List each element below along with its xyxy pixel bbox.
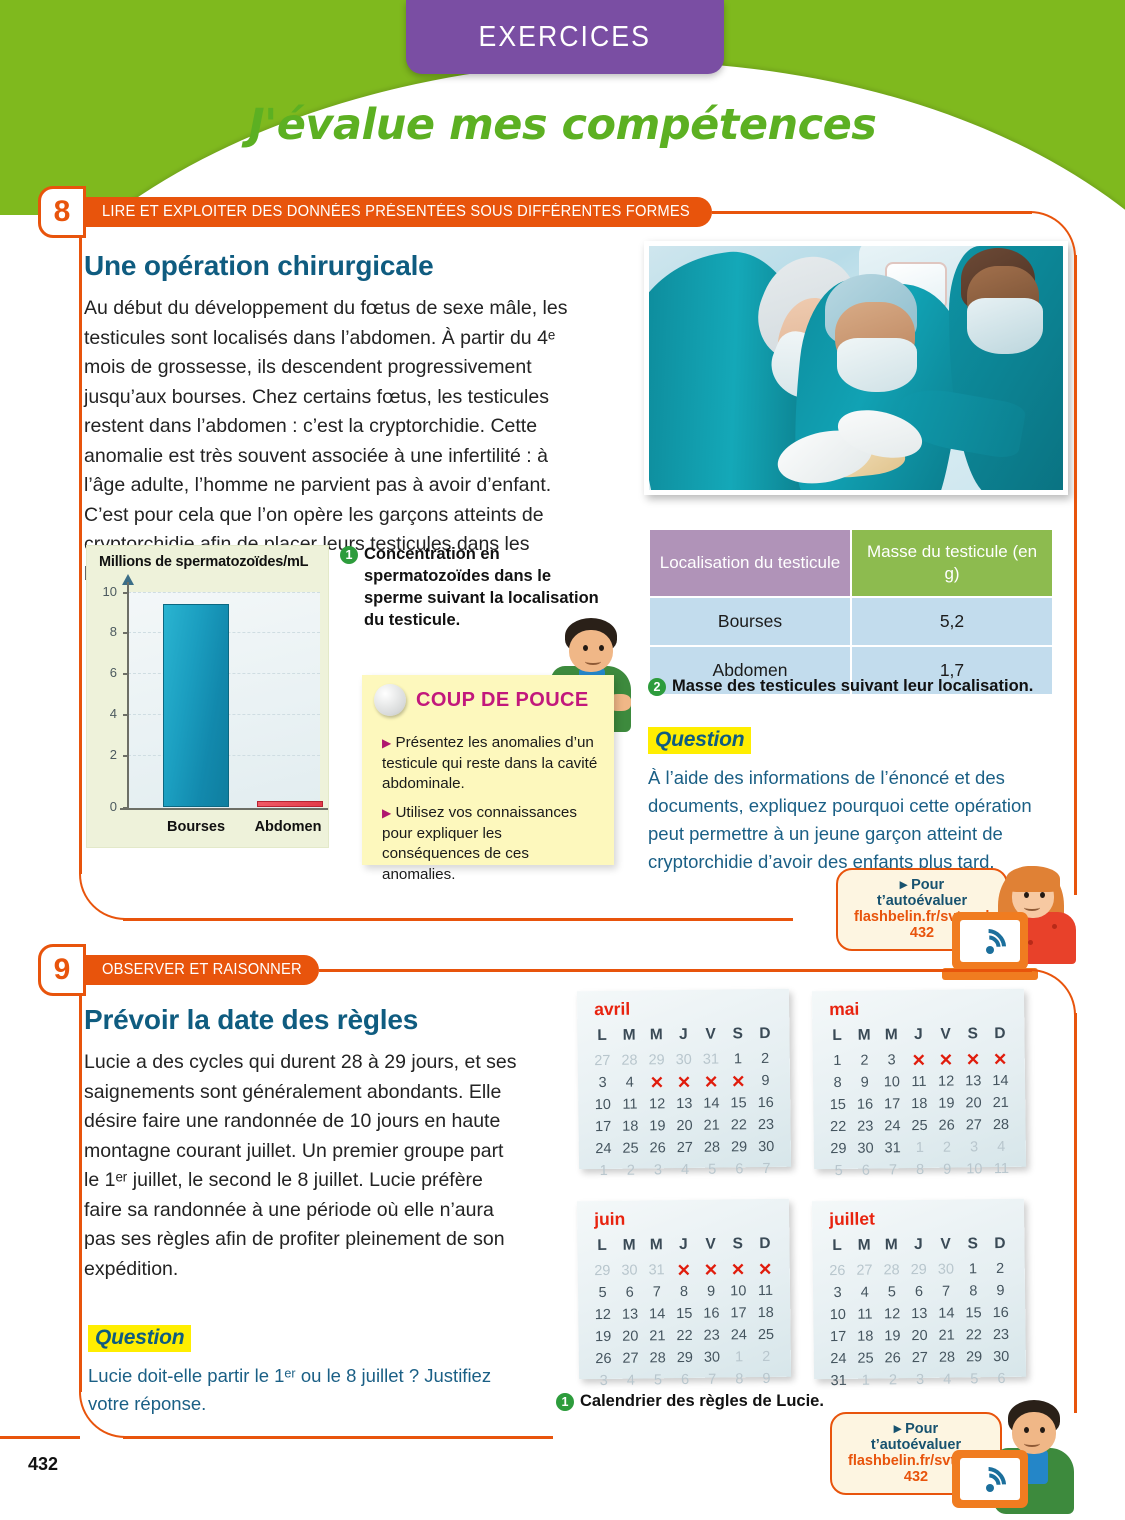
tablet-device-8[interactable] — [952, 912, 1028, 970]
calendar-day: 21 — [644, 1327, 671, 1346]
calendar-day: 22 — [824, 1118, 851, 1137]
calendar-day: 14 — [933, 1305, 960, 1324]
boy-eye-left — [583, 645, 588, 651]
girl-hair-top — [1006, 866, 1060, 892]
calendar-day-of-week: S — [959, 1025, 986, 1047]
table-header-masse: Masse du testicule (en g) — [852, 530, 1052, 596]
calendar-day: 26 — [590, 1350, 617, 1369]
chart-y-tick-label: 2 — [93, 747, 117, 762]
calendar-day: 11 — [752, 1282, 779, 1301]
calendar-day: 29 — [960, 1348, 987, 1367]
chart-y-tick-label: 0 — [93, 799, 117, 814]
calendar-month-label: mai — [829, 999, 859, 1020]
calendar-day: 19 — [879, 1327, 906, 1346]
calendar-day: 31 — [697, 1051, 724, 1070]
calendar-day: 26 — [824, 1262, 851, 1281]
boy-eye-right — [599, 645, 604, 651]
calendar-day: 8 — [670, 1283, 697, 1302]
calendar-day: 1 — [724, 1050, 751, 1069]
calendar-day: 15 — [960, 1304, 987, 1323]
calendar-day: 15 — [725, 1094, 752, 1113]
calendar-day-of-week: S — [724, 1235, 751, 1257]
coup-de-pouce-title: COUP DE POUCE — [416, 689, 589, 712]
calendar-day-of-week: V — [932, 1026, 959, 1048]
calendar-day: 28 — [698, 1138, 725, 1157]
calendar-day: 23 — [852, 1117, 879, 1136]
calendar-day: 18 — [752, 1304, 779, 1323]
calendar-day: 1 — [725, 1348, 752, 1367]
coup-de-pouce-item-2-text: Utilisez vos connaissances pour explique… — [382, 804, 577, 883]
calendar-cross-icon: ✕ — [959, 1050, 986, 1069]
calendar-day: 17 — [824, 1328, 851, 1347]
calendar-day: 8 — [906, 1161, 933, 1180]
surgeon-center-mask — [837, 338, 917, 392]
calendar-day: 20 — [671, 1117, 698, 1136]
calendar-day: 30 — [698, 1348, 725, 1367]
calendar-day: 2 — [851, 1051, 878, 1070]
triangle-bullet-icon: ▶ — [382, 806, 391, 820]
page-title: J'évalue mes compétences — [0, 100, 1125, 150]
exercise-9-competence-banner: OBSERVER ET RAISONNER — [86, 955, 319, 985]
coup-de-pouce-pin-icon — [374, 684, 406, 716]
testicle-mass-table: Localisation du testicule Masse du testi… — [648, 528, 1054, 696]
exercise-8-number: 8 — [38, 186, 86, 238]
calendar-day: 27 — [589, 1052, 616, 1071]
calendar-day: 16 — [851, 1095, 878, 1114]
chart-y-tick-mark — [123, 755, 129, 757]
calendar-day: 5 — [699, 1160, 726, 1179]
calendar-day: 6 — [852, 1161, 879, 1180]
calendar-day-of-week: J — [670, 1026, 697, 1048]
chart-y-tick-label: 4 — [93, 706, 117, 721]
calendar-cross-icon: ✕ — [670, 1261, 697, 1280]
calendar-cross-icon: ✕ — [697, 1261, 724, 1280]
surgeon-right-mask — [967, 298, 1043, 354]
calendar-day: 26 — [933, 1116, 960, 1135]
calendar-day: 22 — [671, 1327, 698, 1346]
calendar-day: 2 — [986, 1260, 1013, 1279]
table-row: Bourses 5,2 — [650, 598, 1052, 645]
calendar-day: 25 — [852, 1349, 879, 1368]
calendar-day: 7 — [932, 1283, 959, 1302]
table-cell-bourses-value: 5,2 — [852, 598, 1052, 645]
table-header-localisation: Localisation du testicule — [650, 530, 850, 596]
calendar-day: 13 — [616, 1305, 643, 1324]
calendar-day: 4 — [617, 1371, 644, 1390]
calendar-cross-icon: ✕ — [932, 1051, 959, 1070]
calendar-day: 13 — [906, 1305, 933, 1324]
calendar-day-of-week: J — [905, 1026, 932, 1048]
calendar-day: 18 — [906, 1095, 933, 1114]
calendar-day: 16 — [752, 1094, 779, 1113]
calendar-day: 26 — [644, 1139, 671, 1158]
doc-1-number-badge: 1 — [340, 546, 358, 564]
calendar-day: 3 — [644, 1161, 671, 1180]
triangle-bullet-icon: ▸ — [900, 877, 907, 893]
boy-eye-right — [1040, 1427, 1045, 1433]
calendar-day: 28 — [933, 1348, 960, 1367]
table-cell-bourses-label: Bourses — [650, 598, 850, 645]
calendar-day: 9 — [752, 1072, 779, 1091]
calendar-day: 17 — [725, 1304, 752, 1323]
calendar-grid: LMMJVSD262728293012345678910111213141516… — [823, 1235, 1015, 1391]
calendar-day: 30 — [852, 1139, 879, 1158]
calendar-mai: mai LMMJVSD123✕✕✕✕8910111213141516171819… — [812, 989, 1026, 1170]
chart-bar-abdomen — [257, 801, 323, 807]
calendar-day: 28 — [987, 1116, 1014, 1135]
calendar-day: 1 — [824, 1052, 851, 1071]
calendar-day: 13 — [671, 1095, 698, 1114]
calendar-day-of-week: V — [932, 1236, 959, 1258]
exercise-9-bottom-rule — [123, 1436, 553, 1439]
calendar-day-of-week: J — [670, 1236, 697, 1258]
calendar-day-of-week: J — [905, 1236, 932, 1258]
calendar-cross-icon: ✕ — [905, 1051, 932, 1070]
exercise-8-right-rule — [1074, 255, 1077, 895]
calendar-day: 8 — [960, 1282, 987, 1301]
calendar-cross-icon: ✕ — [725, 1072, 752, 1091]
chart-x-label-bourses: Bourses — [153, 819, 239, 835]
wifi-icon — [973, 1466, 1007, 1492]
triangle-bullet-icon: ▸ — [894, 1421, 901, 1437]
calendar-day-of-week: L — [823, 1237, 850, 1259]
calendar-day: 1 — [852, 1371, 879, 1390]
calendar-day: 5 — [825, 1162, 852, 1181]
calendar-day: 30 — [753, 1138, 780, 1157]
chart-x-label-abdomen: Abdomen — [245, 819, 331, 835]
autoeval-label-9: ▸ Pour t’autoévaluer — [848, 1421, 984, 1453]
calendar-day: 6 — [988, 1370, 1015, 1389]
chart-y-tick-mark — [123, 632, 129, 634]
calendar-day: 7 — [879, 1161, 906, 1180]
calendar-day: 29 — [589, 1262, 616, 1281]
calendar-day: 28 — [878, 1261, 905, 1280]
calendar-day: 30 — [670, 1051, 697, 1070]
calendar-day: 9 — [753, 1370, 780, 1389]
calendar-day: 3 — [878, 1051, 905, 1070]
calendar-day: 8 — [726, 1370, 753, 1389]
calendar-juillet: juillet LMMJVSD2627282930123456789101112… — [812, 1199, 1026, 1380]
calendar-day: 2 — [933, 1138, 960, 1157]
calendar-day-of-week: S — [959, 1235, 986, 1257]
calendar-day: 5 — [589, 1284, 616, 1303]
calendar-day: 7 — [753, 1160, 780, 1179]
calendar-month-label: avril — [594, 999, 630, 1020]
calendar-day: 11 — [851, 1305, 878, 1324]
calendar-day: 27 — [851, 1261, 878, 1280]
doc-2-caption: 2 Masse des testicules suivant leur loca… — [648, 675, 1048, 697]
calendar-day: 14 — [643, 1305, 670, 1324]
exercise-8-competence-label: LIRE ET EXPLOITER DES DONNÉES PRÉSENTÉES… — [102, 203, 690, 221]
calendar-day: 24 — [590, 1140, 617, 1159]
calendar-day-of-week: M — [850, 1237, 877, 1259]
calendar-grid: LMMJVSD27282930311234✕✕✕✕910111213141516… — [588, 1025, 780, 1181]
chart-y-tick-label: 6 — [93, 665, 117, 680]
chart-bar-bourses — [163, 604, 229, 807]
calendar-day: 25 — [906, 1117, 933, 1136]
calendar-day: 1 — [959, 1260, 986, 1279]
calendar-day: 27 — [671, 1139, 698, 1158]
calendar-day: 15 — [824, 1096, 851, 1115]
calendar-day: 25 — [752, 1326, 779, 1345]
tablet-screen-8 — [960, 920, 1020, 962]
chart-y-tick-label: 10 — [93, 584, 117, 599]
surgery-photo — [649, 246, 1063, 490]
tablet-device-9[interactable] — [952, 1450, 1028, 1508]
exercise-9-question-label: Question — [88, 1325, 191, 1352]
calendar-day: 27 — [617, 1349, 644, 1368]
calendar-day: 1 — [590, 1162, 617, 1181]
calendar-day-of-week: V — [697, 1026, 724, 1048]
calendar-day: 2 — [879, 1371, 906, 1390]
coup-de-pouce-box: COUP DE POUCE ▶ Présentez les anomalies … — [362, 675, 614, 865]
calendar-day: 11 — [988, 1160, 1015, 1179]
calendar-juin: juin LMMJVSD293031✕✕✕✕567891011121314151… — [577, 1199, 791, 1380]
calendar-day: 23 — [987, 1326, 1014, 1345]
calendar-cross-icon: ✕ — [670, 1073, 697, 1092]
calendar-day: 10 — [961, 1160, 988, 1179]
calendar-grid: LMMJVSD293031✕✕✕✕56789101112131415161718… — [588, 1235, 780, 1391]
calendar-day: 3 — [589, 1074, 616, 1093]
calendar-day: 22 — [725, 1116, 752, 1135]
calendar-day-of-week: M — [878, 1026, 905, 1048]
calendar-month-label: juillet — [829, 1209, 875, 1231]
calendar-day: 11 — [616, 1095, 643, 1114]
calendar-day: 9 — [851, 1073, 878, 1092]
calendar-day: 6 — [905, 1283, 932, 1302]
exercise-9-top-rule — [319, 969, 1032, 972]
exercise-8-question-text: À l’aide des informations de l’énoncé et… — [648, 764, 1046, 876]
exercise-9-left-rule — [79, 996, 82, 1392]
calendar-day: 30 — [616, 1261, 643, 1280]
exercise-8-corner-top-right — [1030, 211, 1076, 257]
boy-head — [569, 630, 613, 672]
calendar-day: 11 — [905, 1073, 932, 1092]
calendar-cross-icon: ✕ — [724, 1260, 751, 1279]
calendar-day: 3 — [906, 1371, 933, 1390]
calendar-avril: avril LMMJVSD27282930311234✕✕✕✕910111213… — [577, 989, 791, 1170]
calendar-day: 20 — [960, 1094, 987, 1113]
exercise-8-top-rule — [712, 211, 1032, 214]
calendar-day: 31 — [825, 1372, 852, 1391]
calendar-day: 3 — [590, 1372, 617, 1391]
boy-eye-left — [1024, 1427, 1029, 1433]
calendar-day: 9 — [934, 1160, 961, 1179]
calendar-month-label: juin — [594, 1209, 625, 1230]
exercise-9-title: Prévoir la date des règles — [84, 1004, 520, 1036]
calendar-day: 5 — [961, 1370, 988, 1389]
calendar-day: 8 — [824, 1074, 851, 1093]
calendar-day: 12 — [932, 1073, 959, 1092]
chart-y-tick-mark — [123, 714, 129, 716]
calendar-day-of-week: D — [986, 1025, 1013, 1047]
chart-y-tick-mark — [123, 807, 129, 809]
calendar-day: 12 — [878, 1305, 905, 1324]
exercise-9-corner-top-right — [1030, 969, 1076, 1015]
calendar-day: 29 — [643, 1051, 670, 1070]
calendar-day: 6 — [726, 1160, 753, 1179]
exercise-9-corner-bottom-left — [79, 1392, 125, 1438]
calendar-day: 21 — [698, 1116, 725, 1135]
calendar-day-of-week: V — [697, 1236, 724, 1258]
table-header-row: Localisation du testicule Masse du testi… — [650, 530, 1052, 596]
calendar-day: 4 — [934, 1370, 961, 1389]
calendar-day-of-week: D — [986, 1235, 1013, 1257]
calendar-day-of-week: M — [643, 1236, 670, 1258]
calendar-day: 22 — [960, 1326, 987, 1345]
exercise-9-doc-1-caption-text: Calendrier des règles de Lucie. — [580, 1390, 824, 1412]
calendar-day: 6 — [616, 1283, 643, 1302]
calendar-day: 25 — [617, 1139, 644, 1158]
calendar-day: 27 — [960, 1116, 987, 1135]
doc-2-caption-text: Masse des testicules suivant leur locali… — [672, 675, 1033, 697]
calendar-day: 5 — [644, 1371, 671, 1390]
coup-de-pouce-item-1-text: Présentez les anomalies d’un testicule q… — [382, 734, 597, 792]
calendar-day: 7 — [699, 1370, 726, 1389]
calendar-day: 19 — [933, 1095, 960, 1114]
exercise-8-competence-banner: LIRE ET EXPLOITER DES DONNÉES PRÉSENTÉES… — [86, 197, 712, 227]
calendar-day: 29 — [725, 1138, 752, 1157]
calendar-day: 31 — [879, 1139, 906, 1158]
calendar-day: 15 — [671, 1305, 698, 1324]
calendar-day: 24 — [725, 1326, 752, 1345]
calendar-day: 14 — [698, 1095, 725, 1114]
doc-1-number-badge: 1 — [556, 1393, 574, 1411]
girl-shirt-dot — [1052, 924, 1057, 929]
calendar-day: 21 — [987, 1094, 1014, 1113]
chart-y-tick-mark — [123, 673, 129, 675]
exercise-8-corner-bottom-left — [79, 874, 125, 920]
calendar-day-of-week: L — [823, 1027, 850, 1049]
wifi-icon — [973, 928, 1007, 954]
calendar-day: 18 — [852, 1327, 879, 1346]
calendar-day: 19 — [589, 1328, 616, 1347]
calendar-day: 6 — [671, 1371, 698, 1390]
exercise-9-competence-label: OBSERVER ET RAISONNER — [102, 961, 302, 979]
calendar-day: 17 — [878, 1095, 905, 1114]
calendar-day: 29 — [825, 1140, 852, 1159]
calendar-day: 23 — [752, 1116, 779, 1135]
calendar-day: 21 — [933, 1326, 960, 1345]
calendar-day: 2 — [617, 1161, 644, 1180]
surgery-photo-frame — [644, 241, 1068, 495]
doc-2-number-badge: 2 — [648, 678, 666, 696]
exercise-9-bottom-rule-left — [0, 1436, 80, 1439]
girl-eye-left — [1024, 892, 1029, 898]
calendar-day: 10 — [824, 1306, 851, 1325]
calendar-day: 29 — [905, 1261, 932, 1280]
calendar-day: 16 — [987, 1304, 1014, 1323]
calendar-day: 14 — [987, 1072, 1014, 1091]
chart-y-axis — [127, 582, 129, 810]
spermatozoid-bar-chart: Millions de spermatozoïdes/mL 10 8 6 4 2… — [86, 545, 329, 848]
exercices-tab: EXERCICES — [406, 0, 724, 74]
calendar-day: 13 — [960, 1072, 987, 1091]
calendar-day-of-week: S — [724, 1025, 751, 1047]
calendar-day: 28 — [644, 1349, 671, 1368]
calendar-day-of-week: D — [751, 1235, 778, 1257]
coup-de-pouce-item-1: ▶ Présentez les anomalies d’un testicule… — [382, 733, 600, 795]
calendar-day: 1 — [906, 1139, 933, 1158]
calendar-day-of-week: M — [615, 1027, 642, 1049]
calendar-day: 12 — [643, 1095, 670, 1114]
calendar-day: 12 — [589, 1306, 616, 1325]
autoeval-label-8: ▸ Pour t’autoévaluer — [854, 877, 990, 909]
tablet-screen-9 — [960, 1458, 1020, 1500]
calendar-day: 18 — [617, 1117, 644, 1136]
exercices-tab-label: EXERCICES — [479, 21, 651, 54]
chart-y-tick-mark — [123, 592, 129, 594]
calendar-day-of-week: D — [751, 1025, 778, 1047]
calendar-day: 10 — [878, 1073, 905, 1092]
exercise-9-doc-1-caption: 1 Calendrier des règles de Lucie. — [556, 1390, 886, 1412]
exercise-9-right-rule — [1074, 1013, 1077, 1413]
calendar-grid: LMMJVSD123✕✕✕✕89101112131415161718192021… — [823, 1025, 1015, 1181]
exercise-8-question-label: Question — [648, 727, 751, 754]
calendar-day: 16 — [698, 1305, 725, 1324]
girl-mouth — [1024, 904, 1040, 911]
boy-mouth — [1024, 1440, 1040, 1447]
chart-x-axis — [120, 808, 328, 810]
calendar-day: 2 — [753, 1348, 780, 1367]
chart-gridline — [128, 592, 320, 593]
calendar-day: 23 — [698, 1326, 725, 1345]
chart-y-tick-label: 8 — [93, 624, 117, 639]
calendar-day-of-week: M — [850, 1027, 877, 1049]
page-number: 432 — [28, 1454, 58, 1475]
calendar-day: 29 — [671, 1349, 698, 1368]
calendar-day: 4 — [851, 1283, 878, 1302]
exercise-9-body: Lucie a des cycles qui durent 28 à 29 jo… — [84, 1048, 520, 1284]
exercise-8-title: Une opération chirurgicale — [84, 250, 584, 282]
triangle-bullet-icon: ▶ — [382, 736, 391, 750]
calendar-day: 27 — [906, 1349, 933, 1368]
calendar-day: 3 — [960, 1138, 987, 1157]
calendar-day: 31 — [643, 1261, 670, 1280]
chart-axis-title: Millions de spermatozoïdes/mL — [99, 554, 308, 570]
calendar-day-of-week: M — [643, 1026, 670, 1048]
calendar-day: 2 — [751, 1050, 778, 1069]
calendar-day-of-week: M — [878, 1236, 905, 1258]
calendar-day: 20 — [906, 1327, 933, 1346]
exercise-9-question-text: Lucie doit-elle partir le 1ᵉʳ ou le 8 ju… — [88, 1362, 528, 1418]
exercise-9-number: 9 — [38, 944, 86, 996]
calendar-cross-icon: ✕ — [643, 1073, 670, 1092]
calendar-day: 5 — [878, 1283, 905, 1302]
calendar-day-of-week: L — [588, 1027, 615, 1049]
calendar-day: 4 — [988, 1138, 1015, 1157]
calendar-cross-icon: ✕ — [751, 1260, 778, 1279]
calendar-day: 10 — [725, 1282, 752, 1301]
calendar-day: 3 — [824, 1284, 851, 1303]
calendar-day: 10 — [589, 1096, 616, 1115]
calendar-day: 4 — [616, 1073, 643, 1092]
calendar-day-of-week: L — [588, 1237, 615, 1259]
calendar-cross-icon: ✕ — [986, 1050, 1013, 1069]
calendar-day: 7 — [643, 1283, 670, 1302]
calendar-day-of-week: M — [615, 1237, 642, 1259]
calendar-day: 19 — [644, 1117, 671, 1136]
calendar-day: 9 — [697, 1283, 724, 1302]
coup-de-pouce-item-2: ▶ Utilisez vos connaissances pour expliq… — [382, 803, 600, 885]
calendar-day: 28 — [616, 1051, 643, 1070]
boy-head — [1012, 1412, 1056, 1454]
boy-mouth — [585, 658, 601, 665]
calendar-day: 24 — [825, 1350, 852, 1369]
calendar-cross-icon: ✕ — [697, 1073, 724, 1092]
exercise-8-left-rule — [79, 238, 82, 874]
calendar-day: 24 — [879, 1117, 906, 1136]
